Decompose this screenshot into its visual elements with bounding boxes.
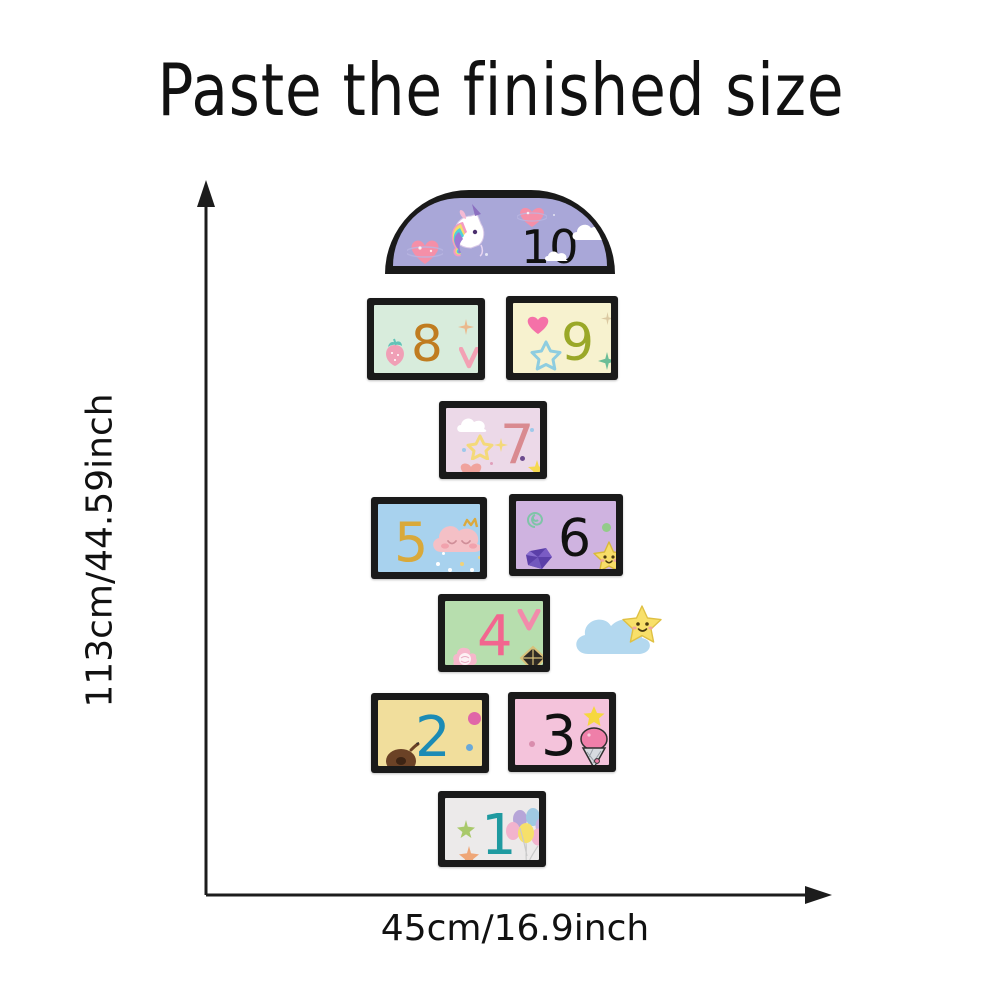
hopscotch-tile-3[interactable]: 3: [508, 692, 616, 772]
tile-5-number: 5: [394, 516, 428, 570]
vertical-dimension-label: 113cm/44.59inch: [80, 386, 121, 716]
hopscotch-tile-1[interactable]: 1: [438, 791, 546, 867]
blue-dot: [466, 744, 473, 751]
pink-flower-icon: [451, 647, 479, 665]
pink-v-icon: [459, 347, 478, 369]
pink-v-icon: [517, 609, 541, 631]
tile-7-face: 7: [446, 408, 540, 472]
peach-star-icon: [458, 319, 474, 335]
pink-dot: [529, 741, 535, 747]
pink-heart-icon: [525, 313, 551, 335]
rain-dot: [478, 556, 480, 559]
sparkle-dot: [485, 253, 488, 256]
yellow-star-icon: [583, 705, 605, 727]
tile-4-number: 4: [477, 609, 513, 665]
horizontal-dimension-label: 45cm/16.9inch: [205, 908, 825, 949]
tile-9-number: 9: [561, 317, 594, 369]
hopscotch-tile-5[interactable]: 5: [371, 497, 487, 579]
yellow-star-outline-icon: [466, 434, 494, 460]
yellow-smiling-star-icon: [592, 541, 616, 569]
rain-dot: [470, 568, 474, 572]
white-cloud-right-icon: [569, 220, 607, 244]
dark-gem-kite-icon: [519, 645, 543, 665]
hopscotch-tile-9[interactable]: 9: [506, 296, 618, 380]
hopscotch-tile-7[interactable]: 7: [439, 401, 547, 479]
unicorn-head-icon: [441, 204, 495, 266]
pink-dot: [490, 462, 493, 465]
hopscotch-tile-10[interactable]: 10: [385, 190, 615, 274]
rain-dot: [442, 552, 445, 555]
sparkle-dot: [553, 214, 555, 216]
white-cloud-small-icon: [543, 248, 570, 263]
tile-6-number: 6: [558, 513, 591, 565]
hopscotch-tile-8[interactable]: 8: [367, 298, 485, 380]
green-dot: [602, 523, 611, 532]
blue-dot: [530, 428, 534, 432]
tile-8-number: 8: [411, 319, 443, 369]
poster-canvas: Paste the finished size 113cm/44.59inch …: [0, 0, 1002, 1002]
rain-dot: [460, 562, 464, 566]
tile-2-face: 2: [378, 700, 482, 766]
sleeping-cloud-icon: [428, 516, 480, 558]
orange-star-icon: [459, 846, 479, 860]
tile-10-face: 10: [393, 198, 607, 266]
tile-4-face: 4: [445, 601, 543, 665]
hopscotch-tile-4[interactable]: 4: [438, 594, 550, 672]
tile-2-number: 2: [415, 710, 451, 766]
green-star-icon: [457, 820, 475, 838]
rain-dot: [436, 562, 440, 566]
rain-dot: [448, 568, 452, 572]
blue-cloud-with-star-decoration: [568, 598, 664, 660]
pink-dot: [468, 712, 481, 725]
purple-dot: [520, 456, 525, 461]
tile-3-number: 3: [541, 709, 577, 765]
pink-ice-cream-cone-icon: [577, 725, 609, 765]
green-star-icon: [598, 352, 611, 370]
yellow-star-corner-icon: [528, 460, 540, 472]
strawberry-icon: [382, 335, 408, 367]
blue-dot: [462, 448, 466, 452]
balloon-bunch-icon: [505, 806, 539, 860]
pink-heart-left-icon: [407, 236, 443, 266]
blue-star-outline-icon: [529, 339, 563, 371]
tile-8-face: 8: [374, 305, 478, 373]
pink-heart-icon: [458, 460, 484, 472]
tan-star-icon: [601, 312, 611, 325]
hopscotch-tile-6[interactable]: 6: [509, 494, 623, 576]
tile-9-face: 9: [513, 303, 611, 373]
white-cloud-icon: [454, 414, 488, 434]
tile-6-face: 6: [516, 501, 616, 569]
page-title: Paste the finished size: [40, 48, 962, 132]
hopscotch-tile-2[interactable]: 2: [371, 693, 489, 773]
green-swirl-icon: [524, 509, 546, 531]
tile-5-face: 5: [378, 504, 480, 572]
purple-gem-icon: [524, 545, 554, 569]
tile-1-face: 1: [445, 798, 539, 860]
tile-3-face: 3: [515, 699, 609, 765]
